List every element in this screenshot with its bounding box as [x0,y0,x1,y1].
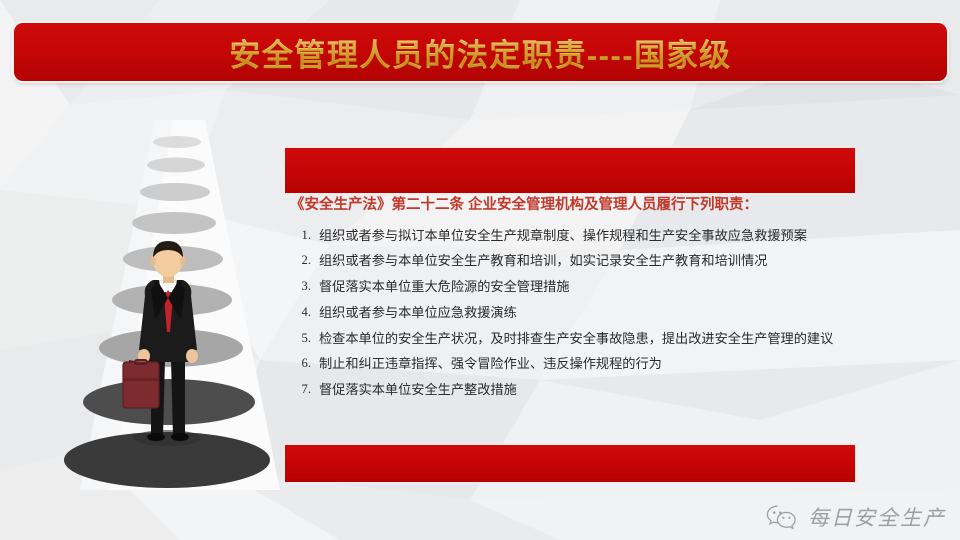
panel-bottom-red-bar [285,445,855,482]
list-item-text: 督促落实本单位安全生产整改措施 [319,381,855,400]
watermark-label: 每日安全生产 [808,502,946,532]
stepping-stone [132,212,216,234]
list-item: 2. 组织或者参与本单位安全生产教育和培训，如实记录安全生产教育和培训情况 [285,252,855,271]
list-item-number: 2. [285,252,319,270]
stepping-stone [83,379,255,425]
page-title: 安全管理人员的法定职责----国家级 [229,30,731,75]
list-item-text: 组织或者参与本单位应急救援演练 [319,304,855,323]
list-item: 4. 组织或者参与本单位应急救援演练 [285,304,855,323]
businessman-on-stepping-stones-illustration [55,120,305,490]
duties-content: 《安全生产法》第二十二条 企业安全管理机构及管理人员履行下列职责： 1. 组织或… [285,195,855,407]
list-item-number: 1. [285,227,319,245]
list-item-number: 7. [285,381,319,399]
stepping-stone [153,136,201,148]
list-item-number: 3. [285,278,319,296]
presentation-slide: 安全管理人员的法定职责----国家级 [0,0,960,540]
wechat-icon [765,504,799,530]
slide-title-banner: 安全管理人员的法定职责----国家级 [14,23,947,81]
content-panel: 《安全生产法》第二十二条 企业安全管理机构及管理人员履行下列职责： 1. 组织或… [285,148,855,483]
list-item-text: 组织或者参与拟订本单位安全生产规章制度、操作规程和生产安全事故应急救援预案 [319,227,855,246]
list-item-number: 6. [285,355,319,373]
list-item: 7. 督促落实本单位安全生产整改措施 [285,381,855,400]
list-item-text: 组织或者参与本单位安全生产教育和培训，如实记录安全生产教育和培训情况 [319,252,855,271]
list-item-text: 检查本单位的安全生产状况，及时排查生产安全事故隐患，提出改进安全生产管理的建议 [319,330,855,349]
list-item-text: 督促落实本单位重大危险源的安全管理措施 [319,278,855,297]
list-item: 5. 检查本单位的安全生产状况，及时排查生产安全事故隐患，提出改进安全生产管理的… [285,330,855,349]
list-item: 3. 督促落实本单位重大危险源的安全管理措施 [285,278,855,297]
list-item: 1. 组织或者参与拟订本单位安全生产规章制度、操作规程和生产安全事故应急救援预案 [285,227,855,246]
stepping-stone [140,183,210,201]
duties-list: 1. 组织或者参与拟订本单位安全生产规章制度、操作规程和生产安全事故应急救援预案… [285,227,855,400]
list-item-number: 4. [285,304,319,322]
briefcase [123,360,159,408]
watermark: 每日安全生产 [765,502,946,532]
list-item-number: 5. [285,330,319,348]
law-heading: 《安全生产法》第二十二条 企业安全管理机构及管理人员履行下列职责： [285,195,855,217]
list-item: 6. 制止和纠正违章指挥、强令冒险作业、违反操作规程的行为 [285,355,855,374]
list-item-text: 制止和纠正违章指挥、强令冒险作业、违反操作规程的行为 [319,355,855,374]
panel-top-red-bar [285,148,855,193]
stepping-stone [147,158,205,173]
